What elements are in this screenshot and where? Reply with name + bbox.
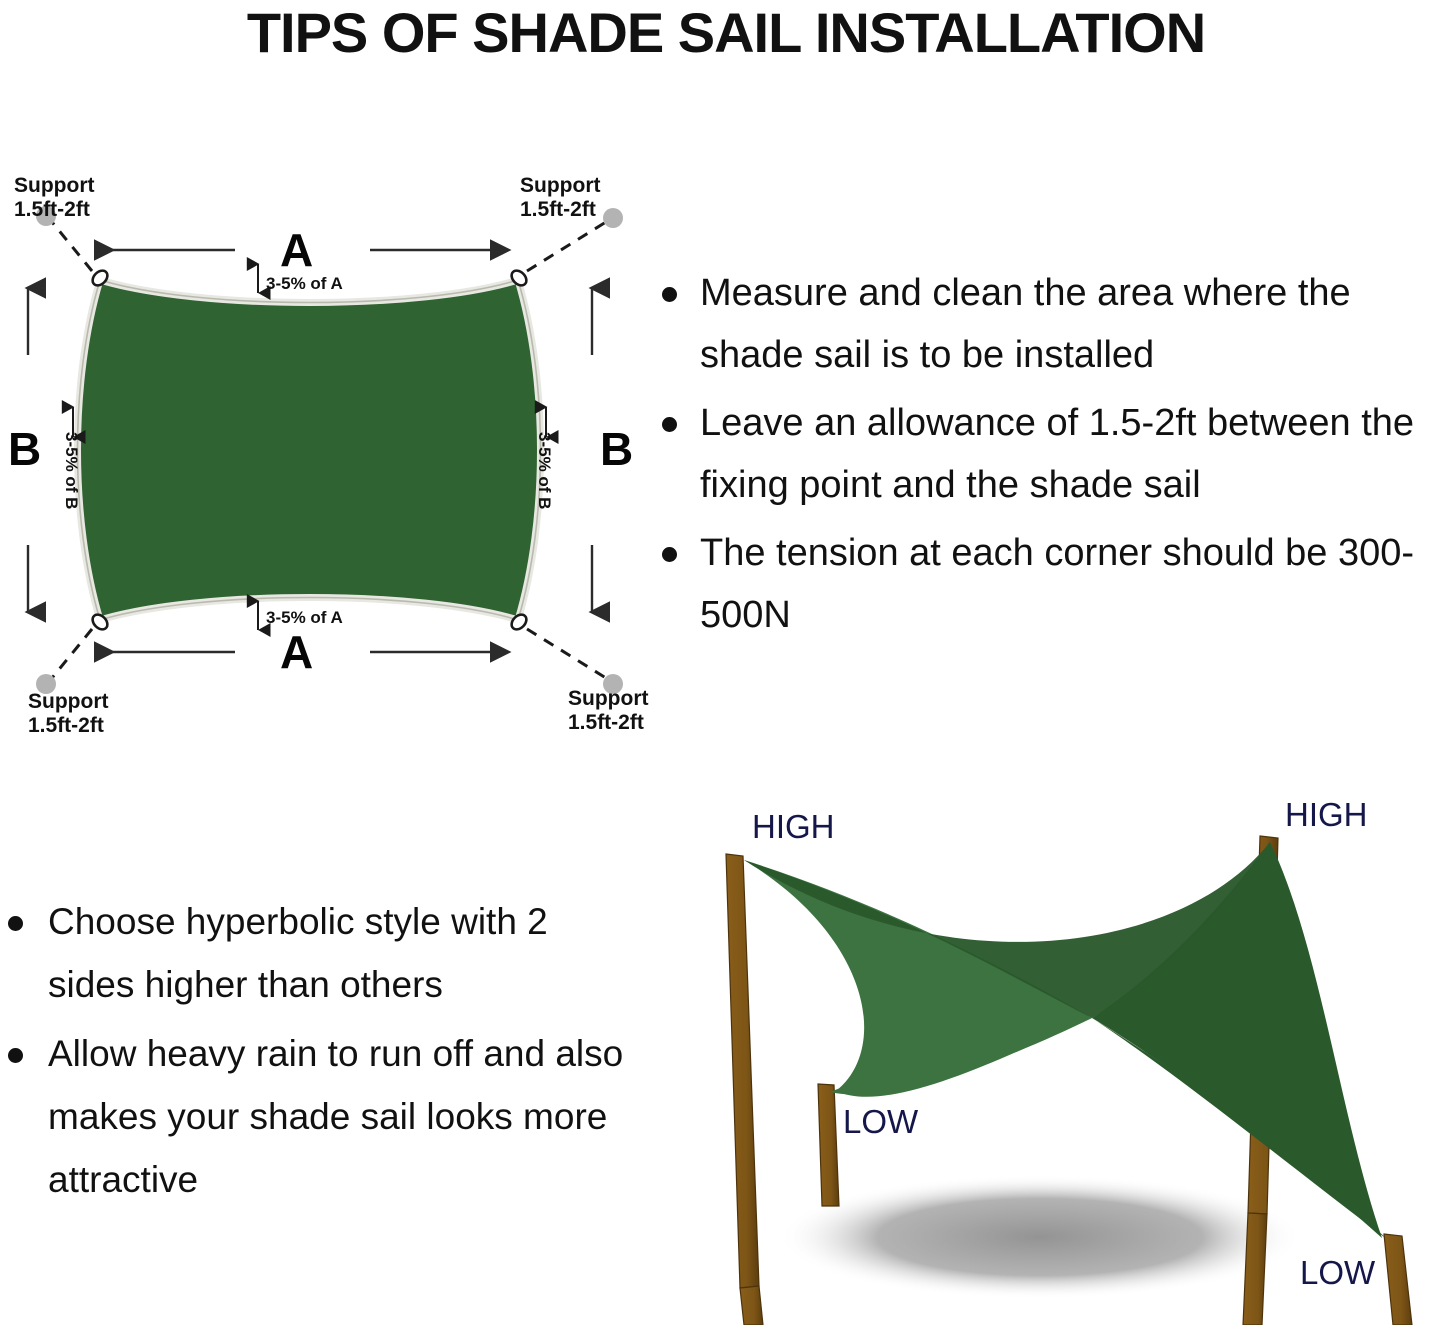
support-label-bottom-left-line2: 1.5ft-2ft: [28, 714, 104, 737]
label-low-left: LOW: [843, 1103, 919, 1140]
label-low-right: LOW: [1300, 1254, 1376, 1291]
installation-tips-list-left: Choose hyperbolic style with 2 sides hig…: [0, 890, 630, 1230]
curve-note-bottom: 3-5% of A: [266, 608, 343, 627]
support-label-top-left-line1: Support: [14, 174, 94, 197]
ground-shadow: [778, 1175, 1302, 1299]
support-label-bottom-right-line1: Support: [568, 687, 648, 710]
list-item: The tension at each corner should be 300…: [648, 522, 1452, 646]
dimension-label-B-left: B: [8, 423, 41, 475]
list-item: Measure and clean the area where the sha…: [648, 262, 1452, 386]
label-high-left: HIGH: [752, 808, 835, 845]
support-lead-bottom-right: [527, 629, 606, 678]
support-lead-bottom-left: [52, 629, 92, 678]
support-label-top-right-line2: 1.5ft-2ft: [520, 198, 596, 221]
dimension-label-A-bottom: A: [280, 626, 313, 678]
support-label-bottom-right-line2: 1.5ft-2ft: [568, 711, 644, 734]
shade-sail-dimension-diagram: Support 1.5ft-2ft Support 1.5ft-2ft Supp…: [0, 160, 650, 740]
post-high-left: [726, 854, 759, 1288]
support-dot-top-right: [603, 208, 623, 228]
tips-list: Measure and clean the area where the sha…: [648, 262, 1452, 646]
list-item: Leave an allowance of 1.5-2ft between th…: [648, 392, 1452, 516]
support-label-top-left-line2: 1.5ft-2ft: [14, 198, 90, 221]
label-high-right: HIGH: [1285, 796, 1368, 833]
page-title: TIPS OF SHADE SAIL INSTALLATION: [0, 2, 1452, 64]
list-item: Allow heavy rain to run off and also mak…: [0, 1022, 630, 1211]
sail-lobe-dark: [1092, 842, 1382, 1238]
hyperbolic-shade-sail-illustration: HIGH HIGH LOW LOW: [640, 786, 1452, 1325]
sail-body: [78, 280, 541, 620]
list-item: Choose hyperbolic style with 2 sides hig…: [0, 890, 630, 1016]
installation-tips-list-right: Measure and clean the area where the sha…: [648, 262, 1452, 662]
dimension-label-B-right: B: [600, 423, 633, 475]
support-lead-top-left: [52, 222, 92, 271]
post-low-right: [1384, 1234, 1412, 1325]
support-lead-top-right: [527, 222, 606, 271]
support-label-bottom-left-line1: Support: [28, 690, 108, 713]
post-low-left: [818, 1084, 839, 1206]
curve-note-left: 3-5% of B: [62, 432, 81, 509]
support-label-top-right-line1: Support: [520, 174, 600, 197]
curve-note-right: 3-5% of B: [535, 432, 554, 509]
curve-note-top: 3-5% of A: [266, 274, 343, 293]
post-high-left-lower: [740, 1286, 763, 1325]
tips-list: Choose hyperbolic style with 2 sides hig…: [0, 890, 630, 1211]
dimension-label-A-top: A: [280, 224, 313, 276]
